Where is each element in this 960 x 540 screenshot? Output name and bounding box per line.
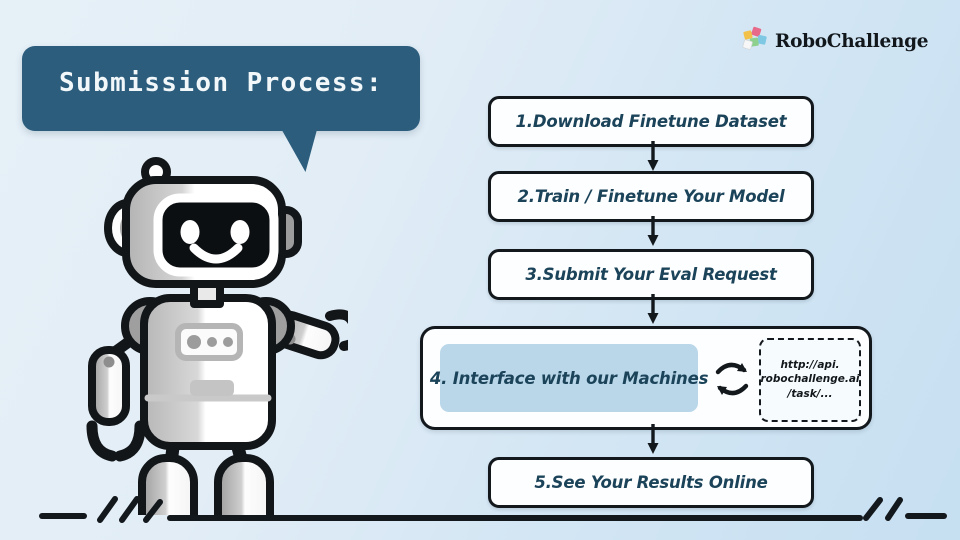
ground-line <box>0 488 960 540</box>
api-url-line-1: http://api. <box>780 360 839 372</box>
flow-arrow-4-to-5 <box>646 424 660 454</box>
slide-canvas: RoboChallenge Submission Process: <box>0 0 960 540</box>
submission-flow-chart: 1.Download Finetune Dataset 2.Train / Fi… <box>418 90 868 510</box>
flow-step-2-label: 2.Train / Finetune Your Model <box>518 187 785 206</box>
brand-logo: RoboChallenge <box>742 26 928 57</box>
api-endpoint-box: http://api. robochallenge.ai /task/... <box>759 338 861 422</box>
flow-step-4[interactable]: 4. Interface with our Machines <box>440 344 698 412</box>
title-speech-bubble: Submission Process: <box>22 46 420 131</box>
friendly-robot-mascot <box>78 140 348 515</box>
flow-arrow-1-to-2 <box>646 141 660 171</box>
flow-step-3-label: 3.Submit Your Eval Request <box>525 265 776 284</box>
sync-arrows-icon <box>711 358 753 400</box>
flow-step-1-label: 1.Download Finetune Dataset <box>516 112 787 131</box>
flow-step-2[interactable]: 2.Train / Finetune Your Model <box>488 171 814 222</box>
flow-step-3[interactable]: 3.Submit Your Eval Request <box>488 249 814 300</box>
api-url-line-3: /task/... <box>788 389 833 401</box>
flow-step-1[interactable]: 1.Download Finetune Dataset <box>488 96 814 147</box>
brand-name: RoboChallenge <box>775 31 928 52</box>
colored-squares-logo-icon <box>742 26 768 57</box>
flow-step-4-label: 4. Interface with our Machines <box>430 369 708 388</box>
flow-arrow-3-to-4 <box>646 294 660 324</box>
flow-arrow-2-to-3 <box>646 216 660 246</box>
flow-step-4-container: 4. Interface with our Machines http://ap… <box>420 326 872 430</box>
page-title: Submission Process: <box>22 68 420 98</box>
api-url-line-2: robochallenge.ai <box>761 374 860 386</box>
